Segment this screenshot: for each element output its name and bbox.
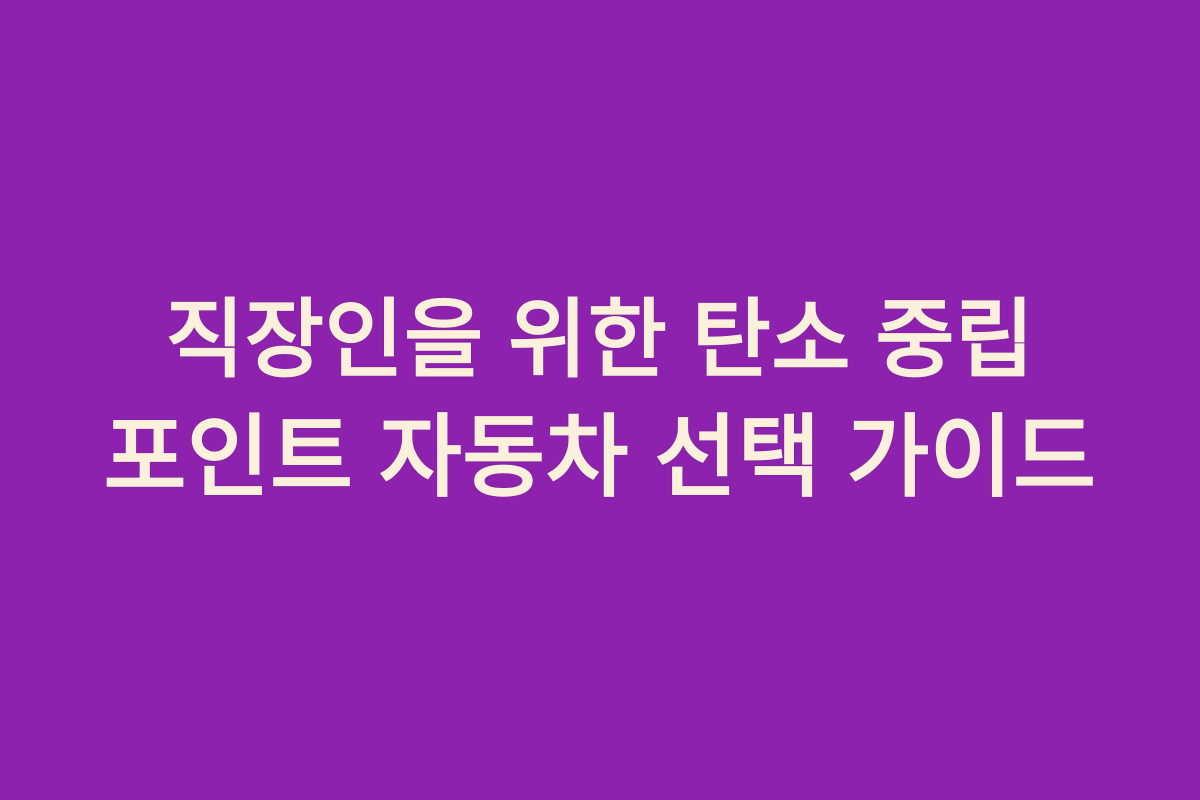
thumbnail-card: 직장인을 위한 탄소 중립 포인트 자동차 선택 가이드 bbox=[0, 0, 1200, 800]
title-line-2: 포인트 자동차 선택 가이드 bbox=[24, 399, 1176, 517]
page-title: 직장인을 위한 탄소 중립 포인트 자동차 선택 가이드 bbox=[0, 281, 1200, 517]
title-line-1: 직장인을 위한 탄소 중립 bbox=[24, 281, 1176, 399]
